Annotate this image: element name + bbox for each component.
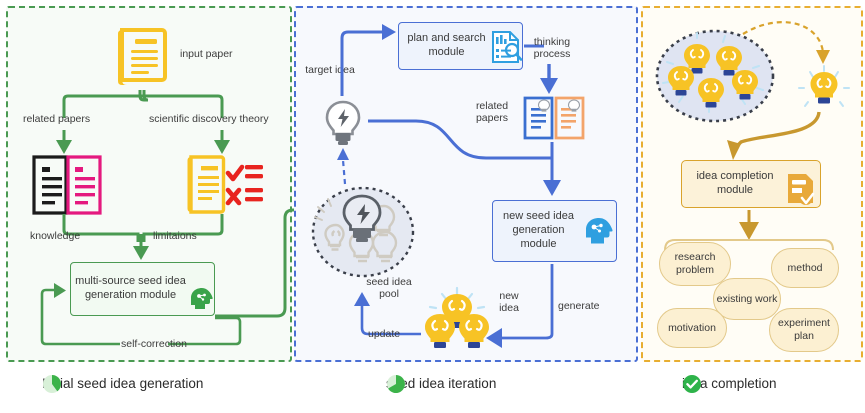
legend-item-completion: idea completion [682,376,777,391]
pool-to-target-dashed-arrow [296,8,636,208]
panel-initial-seed-idea-generation: input paper related papers scientific di… [6,6,292,362]
split-connector [8,8,290,168]
output-pill-existing-work[interactable]: existing work [713,278,781,320]
generate-label: generate [558,300,599,312]
legend: Initial seed idea generation seed idea i… [0,362,865,413]
brain-head-blue-icon [582,216,614,248]
output-pill-research-problem[interactable]: research problem [659,242,731,286]
legend-label-initial: Initial seed idea generation [42,376,203,391]
output-pill-motivation[interactable]: motivation [657,308,727,348]
check-circle-icon [682,374,702,394]
legend-item-initial: Initial seed idea generation [42,376,203,391]
progress-pie-icon [386,374,406,394]
related-papers-label: related papers [23,113,90,125]
new-seed-idea-module-label: new seed idea generation module [493,210,584,251]
output-pill-method[interactable]: method [771,248,839,288]
knowledge-label: knowledge [30,230,80,242]
diagram-canvas: input paper related papers scientific di… [0,0,865,413]
self-correction-label: self-correction [121,338,187,350]
panel-seed-idea-iteration: target idea plan and search module [294,6,638,362]
legend-item-iteration: seed idea iteration [386,376,496,391]
scientific-discovery-theory-label: scientific discovery theory [149,113,269,125]
output-pill-experiment-plan[interactable]: experiment plan [769,308,839,352]
panel-idea-completion: idea completion module research problem … [641,6,863,362]
progress-pie-icon [42,374,62,394]
limitations-label: limitaions [153,230,197,242]
document-check-orange-icon [785,172,817,206]
idea-completion-module-label: idea completion module [682,170,788,198]
